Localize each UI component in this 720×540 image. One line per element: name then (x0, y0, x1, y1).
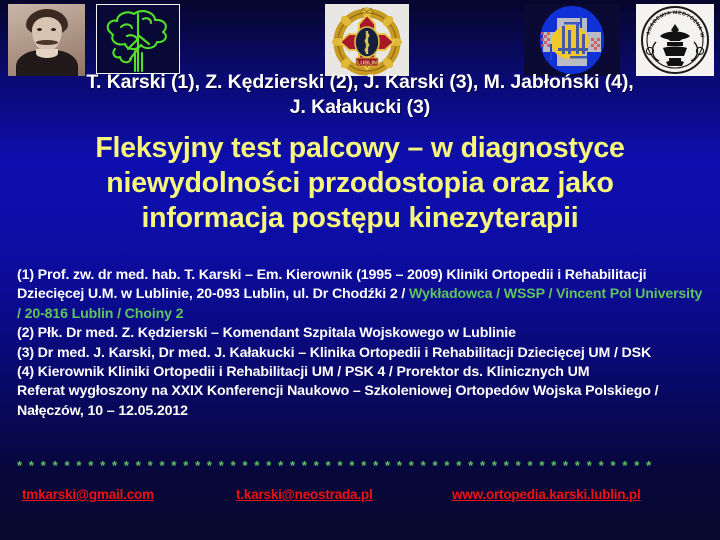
email-link-gmail[interactable]: tmkarski@gmail.com (22, 487, 154, 502)
military-medical-cross-icon: LUBLIN (325, 4, 409, 76)
email-link-neostrada[interactable]: t.karski@neostrada.pl (236, 487, 373, 502)
affiliation-item-4: (4) Kierownik Kliniki Ortopedii i Rehabi… (17, 363, 709, 382)
title-line-2: niewydolności przodostopia oraz jako (22, 166, 698, 201)
website-link[interactable]: www.ortopedia.karski.lublin.pl (452, 487, 641, 502)
slide-title: Fleksyjny test palcowy – w diagnostyce n… (22, 131, 698, 236)
conference-reference: Referat wygłoszony na XXIX Konferencji N… (17, 382, 709, 421)
title-line-3: informacja postępu kinezyterapii (22, 201, 698, 236)
logo-strip: LUBLIN (0, 0, 720, 76)
presentation-slide: LUBLIN (0, 0, 720, 540)
affiliation-item-2: (2) Płk. Dr med. Z. Kędzierski – Komenda… (17, 324, 709, 343)
affiliation-item-3: (3) Dr med. J. Karski, Dr med. J. Kałaku… (17, 344, 709, 363)
authors-line: T. Karski (1), Z. Kędzierski (2), J. Kar… (0, 70, 720, 120)
contact-links: tmkarski@gmail.com t.karski@neostrada.pl… (0, 487, 720, 509)
authors-line-2: J. Kałakucki (3) (0, 95, 720, 120)
portrait-photo-icon (8, 4, 85, 76)
affiliation-item-1: (1) Prof. zw. dr med. hab. T. Karski – E… (17, 266, 709, 324)
authors-line-1: T. Karski (1), Z. Kędzierski (2), J. Kar… (0, 70, 720, 95)
academy-seal-icon: AKADEMIA MEDYCZNA W LUBLINIE (636, 4, 714, 76)
affiliations-block: (1) Prof. zw. dr med. hab. T. Karski – E… (17, 266, 709, 421)
tree-drawing-icon (96, 4, 180, 74)
title-line-1: Fleksyjny test palcowy – w diagnostyce (22, 131, 698, 166)
asterisk-divider: * * * * * * * * * * * * * * * * * * * * … (17, 458, 717, 473)
svg-text:LUBLIN: LUBLIN (357, 61, 377, 67)
city-emblem-icon (524, 4, 620, 76)
